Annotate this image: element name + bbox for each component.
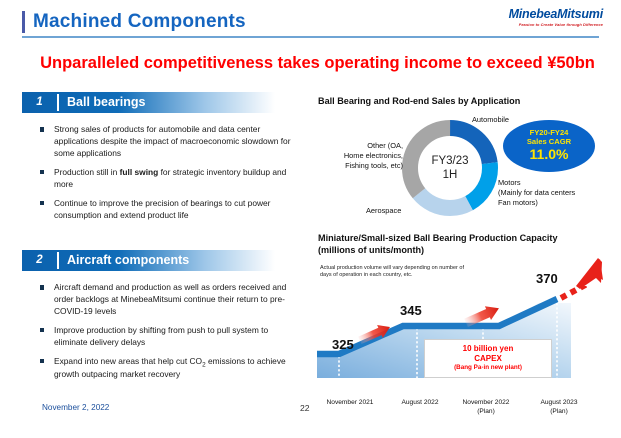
donut-center-line1: FY3/23	[431, 154, 468, 168]
donut-center-label: FY3/23 1H	[398, 116, 502, 220]
data-label-345: 345	[400, 303, 422, 318]
section-label: Ball bearings	[67, 92, 146, 113]
donut-center-line2: 1H	[443, 168, 458, 182]
bullet-text: Continue to improve the precision of bea…	[54, 198, 270, 220]
cagr-value: 11.0%	[530, 147, 569, 163]
page-number: 22	[300, 403, 310, 413]
cagr-caption: Sales CAGR	[527, 138, 571, 147]
donut-chart: FY3/23 1H	[398, 116, 502, 220]
donut-chart-title: Ball Bearing and Rod-end Sales by Applic…	[318, 96, 520, 106]
company-logo: MinebeaMitsumi Passion to Create Value t…	[509, 8, 603, 26]
donut-label-other: Other (OA, Home electronics, Fishing too…	[317, 141, 403, 170]
x-axis-label-nov-2022-sub: (Plan)	[447, 408, 525, 417]
section-header-aircraft-components: 2 Aircraft components	[22, 250, 275, 271]
donut-label-other-line2: Home electronics,	[317, 151, 403, 161]
capacity-chart-title-line1: Miniature/Small-sized Ball Bearing Produ…	[318, 233, 558, 243]
section-divider	[57, 252, 59, 269]
bullet-text: Production still in full swing for strat…	[54, 167, 286, 189]
donut-label-motors-line1: Motors	[498, 178, 575, 188]
slide: Machined Components MinebeaMitsumi Passi…	[0, 0, 621, 438]
bullet-list-ball-bearings: Strong sales of products for automobile …	[38, 124, 293, 228]
x-axis-label-nov-2021: November 2021	[312, 399, 388, 408]
page-title: Machined Components	[33, 11, 246, 33]
capex-line3: (Bang Pa-in new plant)	[425, 364, 551, 372]
bullet-square-icon	[40, 127, 44, 131]
logo-tagline: Passion to Create Value through Differen…	[509, 23, 603, 27]
x-axis-label-aug-2023-main: August 2023	[525, 399, 593, 408]
footer-date: November 2, 2022	[42, 403, 109, 412]
list-item: Strong sales of products for automobile …	[38, 124, 293, 160]
capacity-chart-title-line2: (millions of units/month)	[318, 245, 424, 255]
bullet-square-icon	[40, 285, 44, 289]
bullet-text: Strong sales of products for automobile …	[54, 124, 290, 158]
x-axis-label-nov-2022-main: November 2022	[447, 399, 525, 408]
bullet-square-icon	[40, 170, 44, 174]
bullet-square-icon	[40, 201, 44, 205]
capacity-chart-note: Actual production volume will vary depen…	[320, 265, 470, 280]
projection-arrowhead-icon	[574, 256, 604, 290]
section-divider	[57, 94, 59, 111]
section-label: Aircraft components	[67, 250, 189, 271]
donut-label-automobile: Automobile	[472, 115, 509, 125]
capex-callout: 10 billion yen CAPEX (Bang Pa-in new pla…	[424, 339, 552, 378]
logo-name: MinebeaMitsumi	[509, 8, 603, 21]
capex-line2: CAPEX	[425, 354, 551, 364]
bullet-text: Aircraft demand and production as well a…	[54, 282, 286, 316]
headline: Unparalleled competitiveness takes opera…	[30, 54, 605, 73]
x-axis-label-aug-2023: August 2023 (Plan)	[525, 399, 593, 416]
donut-label-motors-line3: Fan motors)	[498, 198, 575, 208]
section-header-ball-bearings: 1 Ball bearings	[22, 92, 275, 113]
bullet-square-icon	[40, 328, 44, 332]
section-number: 1	[22, 92, 57, 113]
list-item: Aircraft demand and production as well a…	[38, 282, 296, 318]
list-item: Production still in full swing for strat…	[38, 167, 293, 191]
bullet-list-aircraft-components: Aircraft demand and production as well a…	[38, 282, 296, 388]
list-item: Improve production by shifting from push…	[38, 325, 296, 349]
title-underline	[22, 36, 599, 38]
data-label-370: 370	[536, 271, 558, 286]
x-axis-label-aug-2022: August 2022	[387, 399, 453, 408]
bullet-text: Improve production by shifting from push…	[54, 325, 268, 347]
donut-label-motors-line2: (Mainly for data centers	[498, 188, 575, 198]
x-axis-label-aug-2023-sub: (Plan)	[525, 408, 593, 417]
x-axis-label-nov-2022: November 2022 (Plan)	[447, 399, 525, 416]
list-item: Continue to improve the precision of bea…	[38, 198, 293, 222]
cagr-badge: FY20-FY24 Sales CAGR 11.0%	[503, 120, 595, 172]
capex-line1: 10 billion yen	[425, 344, 551, 354]
donut-label-aerospace: Aerospace	[366, 206, 401, 216]
donut-label-other-line3: Fishing tools, etc)	[317, 161, 403, 171]
bullet-text: Expand into new areas that help cut CO2 …	[54, 356, 286, 380]
list-item: Expand into new areas that help cut CO2 …	[38, 356, 296, 382]
title-accent-bar	[22, 11, 25, 33]
donut-label-motors: Motors (Mainly for data centers Fan moto…	[498, 178, 575, 207]
donut-label-other-line1: Other (OA,	[317, 141, 403, 151]
data-label-325: 325	[332, 337, 354, 352]
bullet-square-icon	[40, 359, 44, 363]
section-number: 2	[22, 250, 57, 271]
